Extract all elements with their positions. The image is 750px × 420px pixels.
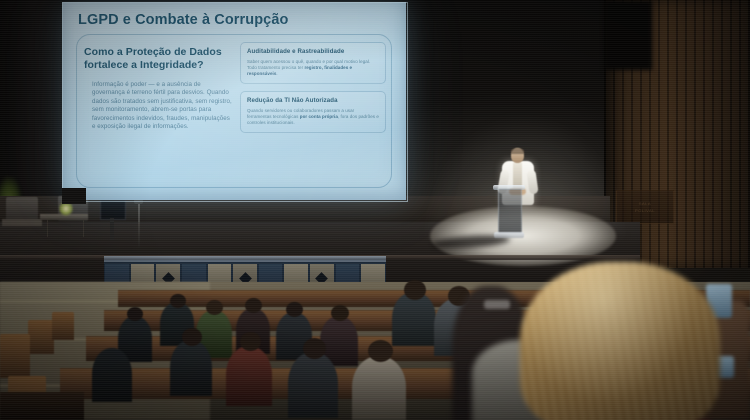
audience-head [404, 280, 426, 300]
wall-sign-line-1: SALA [639, 201, 651, 206]
podium [493, 185, 525, 241]
slide-body-text: Informação é poder — e a ausência de gov… [92, 81, 234, 131]
auditorium-scene: SALA POLIVAL LGPD e Combate à Corrupção … [0, 0, 750, 420]
audience-head [127, 307, 143, 321]
seat-back [28, 320, 54, 354]
audience-person [92, 348, 132, 402]
slide-right-column: Auditabilidade e Rastreabilidade Saber q… [240, 42, 386, 140]
right-wall-shadow [604, 0, 652, 70]
info-box-body: Quando servidores ou colaboradores passa… [247, 108, 379, 126]
flower-vase [59, 203, 73, 217]
podium-body [498, 189, 522, 233]
foreground-eyeglasses [484, 300, 510, 309]
audience-person [288, 352, 338, 418]
foreground-hair-strands [520, 262, 720, 420]
seat-back [52, 312, 74, 340]
info-box-auditability: Auditabilidade e Rastreabilidade Saber q… [240, 42, 386, 84]
slide-title: LGPD e Combate à Corrupção [78, 12, 288, 28]
audience-head [182, 328, 202, 346]
info-box-body: Saber quem acessou o quê, quando e por q… [247, 59, 379, 77]
info-box-heading: Redução da TI Não Autorizada [247, 97, 379, 105]
audience-head [240, 332, 261, 351]
seat-back [0, 334, 30, 378]
audience-head [245, 298, 262, 313]
audience-head [368, 340, 393, 362]
side-table-legs [44, 219, 84, 237]
info-box-heading: Auditabilidade e Rastreabilidade [247, 48, 379, 56]
audience-head [286, 302, 303, 317]
speaker-hair [511, 148, 524, 154]
floor-monitor [100, 200, 126, 220]
microphone-stand [138, 202, 140, 248]
projection-screen: LGPD e Combate à Corrupção Como a Proteç… [62, 2, 406, 200]
wall-sign-line-2: POLIVAL [635, 208, 655, 213]
audience-head [303, 338, 326, 359]
audience-person [352, 356, 406, 420]
audience-person [226, 346, 272, 406]
slide-surface: LGPD e Combate à Corrupção Como a Proteç… [62, 2, 406, 200]
slide-left-column: Como a Proteção de Dados fortalece a Int… [84, 46, 234, 131]
audience-person [170, 340, 212, 396]
screen-stand [62, 188, 86, 204]
info-body-bold: por conta própria [300, 114, 338, 119]
audience-head [331, 305, 349, 321]
audience-head [170, 294, 186, 308]
info-body-post: . [276, 71, 277, 76]
info-box-shadow-it: Redução da TI Não Autorizada Quando serv… [240, 91, 386, 133]
audience-head [206, 300, 223, 315]
slide-lead-question: Como a Proteção de Dados fortalece a Int… [84, 46, 234, 72]
podium-base [494, 232, 524, 238]
stage-armchair-1-seat [2, 219, 42, 226]
audience-person [392, 292, 436, 346]
seat-back [0, 392, 84, 420]
left-dark-wall [0, 0, 62, 200]
floor-monitor-stand [110, 218, 114, 240]
